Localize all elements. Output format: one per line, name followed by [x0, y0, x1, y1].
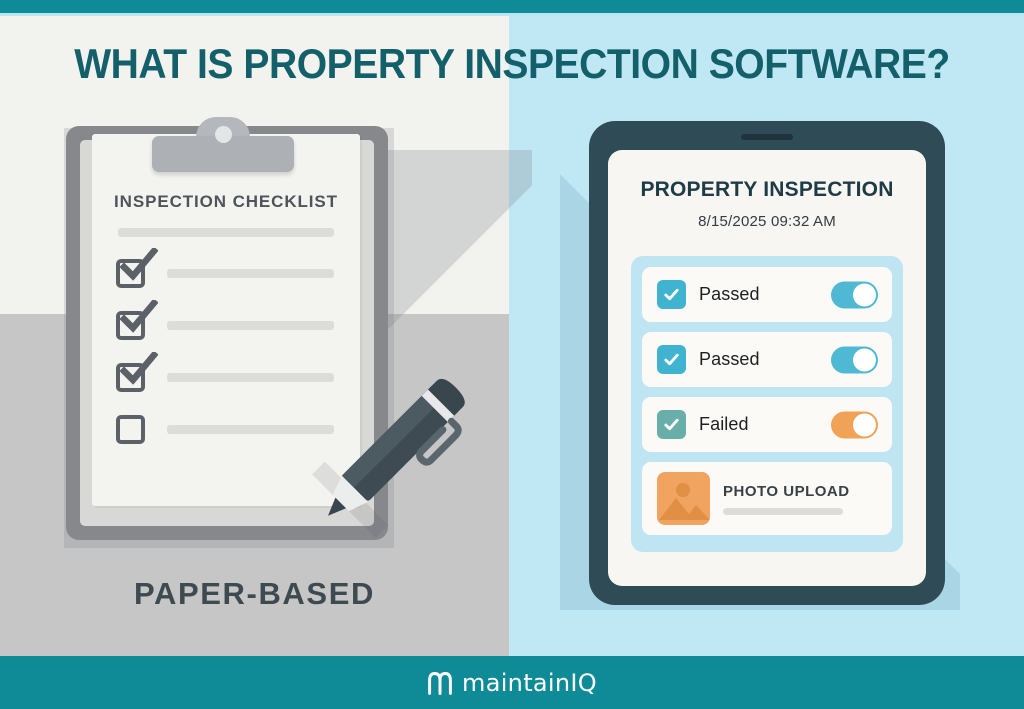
row-label-3: Failed — [699, 414, 749, 435]
row-toggle-3[interactable] — [831, 411, 878, 438]
top-accent-underline — [0, 13, 1024, 16]
brand-wordmark: maintainIQ — [462, 669, 597, 697]
maintainiq-m-logo-icon — [427, 671, 453, 695]
check-icon — [662, 285, 681, 304]
row-checkbox-1[interactable] — [657, 280, 686, 309]
image-placeholder-icon — [657, 472, 710, 525]
checklist-checkbox-4[interactable] — [116, 415, 145, 444]
list-item[interactable]: Failed — [642, 397, 892, 452]
clipboard-clip-hole — [215, 126, 232, 143]
toggle-knob — [853, 348, 876, 371]
row-toggle-1[interactable] — [831, 281, 878, 308]
checklist-rule-top — [118, 228, 334, 237]
screen-datetime: 8/15/2025 09:32 AM — [608, 213, 926, 230]
clipboard-long-shadow — [372, 150, 532, 380]
infographic-canvas: WHAT IS PROPERTY INSPECTION SOFTWARE? IN… — [0, 0, 1024, 709]
checklist-rule-2 — [167, 321, 334, 330]
footer-brand-bar: maintainIQ — [0, 656, 1024, 709]
checkmark-icon-2 — [116, 300, 158, 336]
row-toggle-2[interactable] — [831, 346, 878, 373]
photo-upload-label: PHOTO UPLOAD — [723, 483, 850, 500]
checklist-title: INSPECTION CHECKLIST — [92, 192, 360, 212]
toggle-knob — [853, 413, 876, 436]
check-icon — [662, 350, 681, 369]
top-accent-bar — [0, 0, 1024, 13]
photo-upload-rule — [723, 508, 843, 515]
pen-icon — [292, 356, 492, 546]
checklist-rule-1 — [167, 269, 334, 278]
tablet-device: PROPERTY INSPECTION 8/15/2025 09:32 AM P… — [589, 121, 945, 605]
photo-upload-item[interactable]: PHOTO UPLOAD — [642, 462, 892, 535]
row-checkbox-3[interactable] — [657, 410, 686, 439]
row-label-2: Passed — [699, 349, 760, 370]
photo-upload-text-group: PHOTO UPLOAD — [723, 483, 850, 515]
inspection-list-container: Passed Passed — [631, 256, 903, 552]
screen-title: PROPERTY INSPECTION — [608, 178, 926, 202]
paper-based-caption: PAPER-BASED — [0, 576, 509, 612]
checkmark-icon-3 — [116, 352, 158, 388]
toggle-knob — [853, 283, 876, 306]
row-label-1: Passed — [699, 284, 760, 305]
check-icon — [662, 415, 681, 434]
list-item[interactable]: Passed — [642, 332, 892, 387]
row-checkbox-2[interactable] — [657, 345, 686, 374]
tablet-screen: PROPERTY INSPECTION 8/15/2025 09:32 AM P… — [608, 150, 926, 586]
list-item[interactable]: Passed — [642, 267, 892, 322]
page-title: WHAT IS PROPERTY INSPECTION SOFTWARE? — [36, 40, 988, 88]
tablet-speaker-icon — [741, 134, 793, 140]
checkmark-icon-1 — [116, 248, 158, 284]
